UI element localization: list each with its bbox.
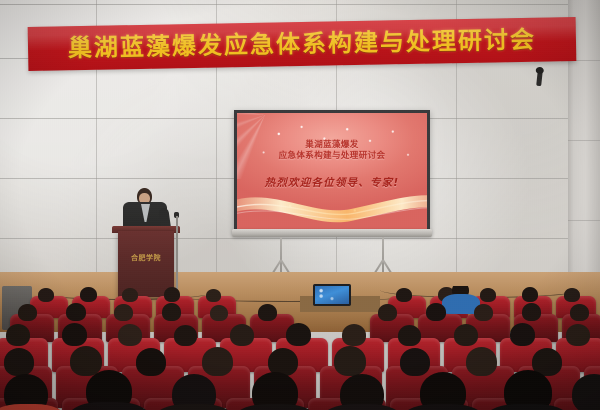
audience-seating	[0, 286, 600, 410]
audience-member-head	[202, 347, 233, 376]
audience-member-head	[570, 304, 589, 321]
audience-member-head	[522, 287, 538, 302]
audience-member-head	[136, 348, 166, 376]
wall-grout-line	[0, 4, 600, 5]
audience-member-head	[122, 288, 138, 302]
slide-title-line2: 应急体系构建与处理研讨会	[237, 151, 427, 162]
audience-member-head	[398, 325, 421, 346]
audience-member-head	[474, 304, 493, 321]
pillar-line	[568, 220, 600, 221]
conference-photo: 巢湖蓝藻爆发应急体系构建与处理研讨会 巢湖蓝藻爆发 应急体系构建与处理研讨会 热…	[0, 0, 600, 410]
audience-member-head	[230, 324, 254, 346]
projection-screen-frame: 巢湖蓝藻爆发 应急体系构建与处理研讨会 热烈欢迎各位领导、专家!	[234, 110, 430, 232]
slide-title-line1: 巢湖蓝藻爆发	[237, 140, 427, 151]
projected-slide: 巢湖蓝藻爆发 应急体系构建与处理研讨会 热烈欢迎各位领导、专家!	[237, 113, 427, 229]
audience-member-head	[454, 324, 478, 346]
audience-member-head	[118, 324, 142, 346]
audience-member-head	[400, 348, 430, 376]
pillar-line	[568, 140, 600, 141]
slide-title: 巢湖蓝藻爆发 应急体系构建与处理研讨会	[237, 140, 427, 162]
audience-member-head	[210, 305, 228, 321]
audience-member-head	[38, 288, 54, 302]
audience-member-head	[18, 304, 37, 321]
audience-member-head	[564, 288, 580, 302]
audience-member-head	[164, 287, 180, 302]
audience-member-head	[258, 304, 277, 321]
audience-member-head	[6, 324, 30, 346]
audience-member-head	[522, 303, 541, 321]
speaker-shirt	[141, 204, 150, 222]
audience-member-head	[66, 303, 86, 321]
audience-member-head	[286, 323, 311, 346]
audience-member-head	[378, 304, 397, 321]
audience-member-head	[162, 303, 181, 321]
audience-member-head	[4, 348, 34, 376]
slide-wave-graphic	[237, 183, 427, 227]
banner-title-text: 巢湖蓝藻爆发应急体系构建与处理研讨会	[68, 28, 536, 61]
audience-member-head	[466, 347, 497, 376]
audience-member-head	[342, 324, 366, 346]
audience-member-head	[114, 304, 133, 321]
wave-svg	[237, 183, 427, 227]
audience-member-head	[426, 303, 446, 321]
projection-screen-case	[232, 229, 432, 237]
audience-member-head	[510, 323, 535, 346]
audience-member-head	[80, 287, 97, 302]
audience-member-head	[480, 288, 496, 302]
microphone-stand	[176, 216, 178, 296]
audience-member-head	[174, 325, 197, 346]
audience-member-head	[334, 346, 366, 376]
podium-label: 合肥学院	[118, 253, 174, 263]
audience-member-head	[396, 288, 412, 302]
projection-screen-unit: 巢湖蓝藻爆发 应急体系构建与处理研讨会 热烈欢迎各位领导、专家!	[234, 110, 430, 240]
audience-member-head	[206, 289, 221, 302]
audience-member-head	[62, 323, 87, 346]
audience-member-head	[566, 324, 590, 346]
